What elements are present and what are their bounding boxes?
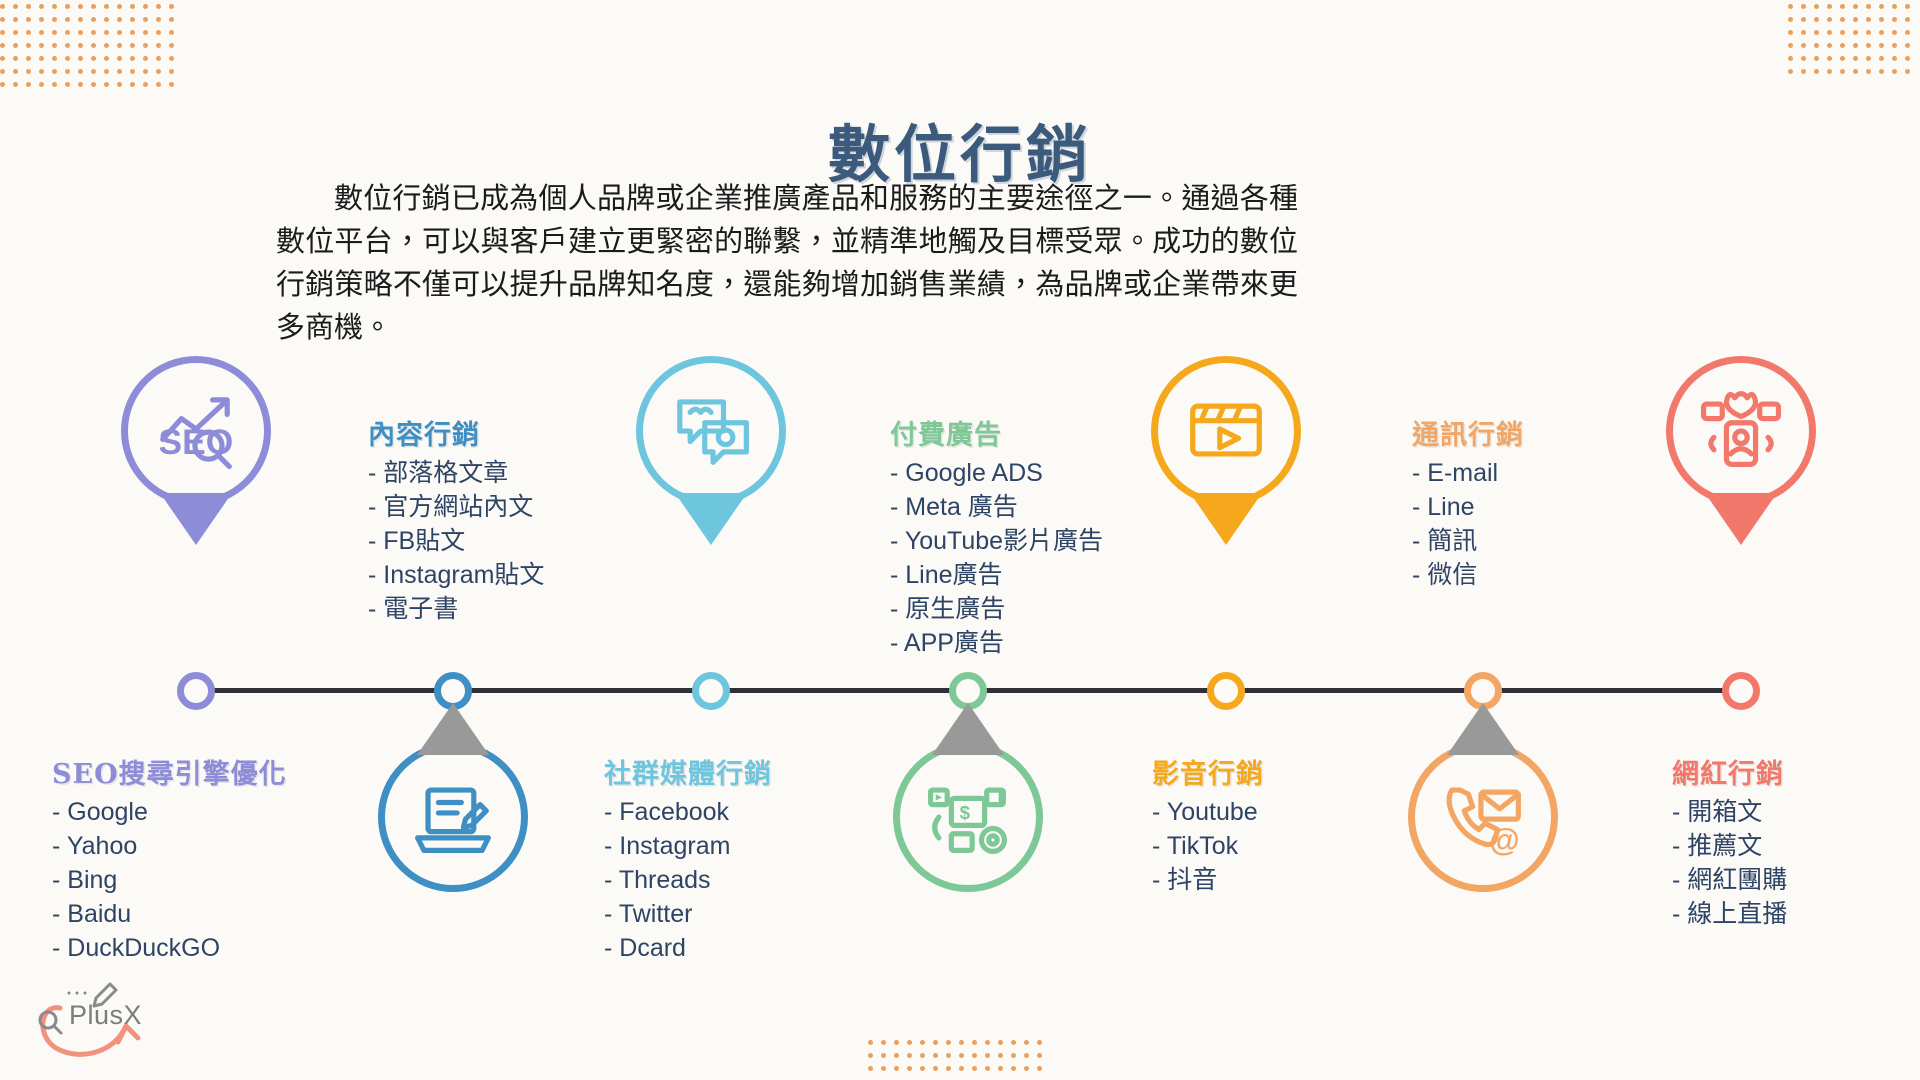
channel-list-item: - Google (52, 795, 287, 829)
channel-pin-seo: SEO (121, 356, 271, 506)
channel-card-seo: SEO搜尋引擎優化 - Google- Yahoo- Bing- Baidu- … (52, 752, 287, 965)
svg-text:$: $ (960, 802, 971, 823)
channel-list-item: - 網紅團購 (1672, 863, 1787, 897)
channel-list-item: - 官方網站內文 (368, 490, 544, 524)
channel-card-content: 內容行銷 - 部落格文章- 官方網站內文- FB貼文- Instagram貼文-… (368, 413, 544, 626)
channel-list-paid: - Google ADS- Meta 廣告- YouTube影片廣告- Line… (890, 456, 1103, 660)
video-player-icon (1174, 377, 1278, 486)
channel-pin-video (1151, 356, 1301, 506)
channel-list-item: - 推薦文 (1672, 829, 1787, 863)
channel-list-item: - Twitter (604, 897, 772, 931)
channel-heading-social: 社群媒體行銷 (604, 752, 772, 791)
channel-heading-seo: SEO搜尋引擎優化 (52, 752, 287, 791)
svg-text:@: @ (1489, 822, 1519, 857)
channel-pin-social (636, 356, 786, 506)
channel-list-item: - Bing (52, 863, 287, 897)
channel-list-item: - 原生廣告 (890, 592, 1103, 626)
channel-list-item: - 微信 (1412, 558, 1524, 592)
channel-heading-content: 內容行銷 (368, 413, 544, 452)
timeline-node-seo (177, 672, 215, 710)
channel-pin-influencer (1666, 356, 1816, 506)
channel-card-influencer: 網紅行銷 - 開箱文- 推薦文- 網紅團購- 線上直播 (1672, 752, 1787, 931)
channel-list-item: - Instagram (604, 829, 772, 863)
channel-list-content: - 部落格文章- 官方網站內文- FB貼文- Instagram貼文- 電子書 (368, 456, 544, 626)
channel-heading-messaging: 通訊行銷 (1412, 413, 1524, 452)
channel-heading-influencer: 網紅行銷 (1672, 752, 1787, 791)
channel-list-item: - TikTok (1152, 829, 1264, 863)
channel-list-item: - Line廣告 (890, 558, 1103, 592)
channel-pin-paid: $ (893, 742, 1043, 892)
channel-list-item: - Yahoo (52, 829, 287, 863)
channel-pin-content (378, 742, 528, 892)
channel-list-item: - Baidu (52, 897, 287, 931)
channel-card-paid: 付費廣告 - Google ADS- Meta 廣告- YouTube影片廣告-… (890, 413, 1103, 660)
channel-list-video: - Youtube- TikTok- 抖音 (1152, 795, 1264, 897)
channel-list-item: - Meta 廣告 (890, 490, 1103, 524)
timeline-node-social (692, 672, 730, 710)
channel-list-influencer: - 開箱文- 推薦文- 網紅團購- 線上直播 (1672, 795, 1787, 931)
channel-list-item: - Youtube (1152, 795, 1264, 829)
channel-list-item: - YouTube影片廣告 (890, 524, 1103, 558)
channel-list-item: - Threads (604, 863, 772, 897)
timeline-node-video (1207, 672, 1245, 710)
timeline-node-influencer (1722, 672, 1760, 710)
channel-list-item: - Google ADS (890, 456, 1103, 490)
channel-list-item: - 簡訊 (1412, 524, 1524, 558)
channel-list-item: - 開箱文 (1672, 795, 1787, 829)
channel-list-item: - 抖音 (1152, 863, 1264, 897)
channel-heading-video: 影音行銷 (1152, 752, 1264, 791)
channel-card-video: 影音行銷 - Youtube- TikTok- 抖音 (1152, 752, 1264, 897)
channel-list-item: - Instagram貼文 (368, 558, 544, 592)
brand-logo: PlusX (22, 968, 172, 1064)
channel-list-item: - Dcard (604, 931, 772, 965)
channel-card-social: 社群媒體行銷 - Facebook- Instagram- Threads- T… (604, 752, 772, 965)
brand-name: PlusX (69, 1000, 142, 1031)
channel-card-messaging: 通訊行銷 - E-mail- Line- 簡訊- 微信 (1412, 413, 1524, 592)
channel-heading-paid: 付費廣告 (890, 413, 1103, 452)
channel-list-social: - Facebook- Instagram- Threads- Twitter-… (604, 795, 772, 965)
channel-list-messaging: - E-mail- Line- 簡訊- 微信 (1412, 456, 1524, 592)
channel-list-item: - DuckDuckGO (52, 931, 287, 965)
chat-bubbles-icon (659, 377, 763, 486)
channel-list-seo: - Google- Yahoo- Bing- Baidu- DuckDuckGO (52, 795, 287, 965)
channel-list-item: - 線上直播 (1672, 897, 1787, 931)
channel-list-item: - 電子書 (368, 592, 544, 626)
channel-list-item: - Line (1412, 490, 1524, 524)
channel-list-item: - Facebook (604, 795, 772, 829)
phone-email-icon: @ (1431, 763, 1535, 872)
channel-pin-messaging: @ (1408, 742, 1558, 892)
channel-list-item: - 部落格文章 (368, 456, 544, 490)
seo-magnifier-chart-icon: SEO (144, 377, 248, 486)
mobile-social-icon (1689, 377, 1793, 486)
channel-list-item: - FB貼文 (368, 524, 544, 558)
ads-screen-icon: $ (916, 763, 1020, 872)
laptop-writing-icon (401, 763, 505, 872)
channel-list-item: - APP廣告 (890, 626, 1103, 660)
channel-list-item: - E-mail (1412, 456, 1524, 490)
